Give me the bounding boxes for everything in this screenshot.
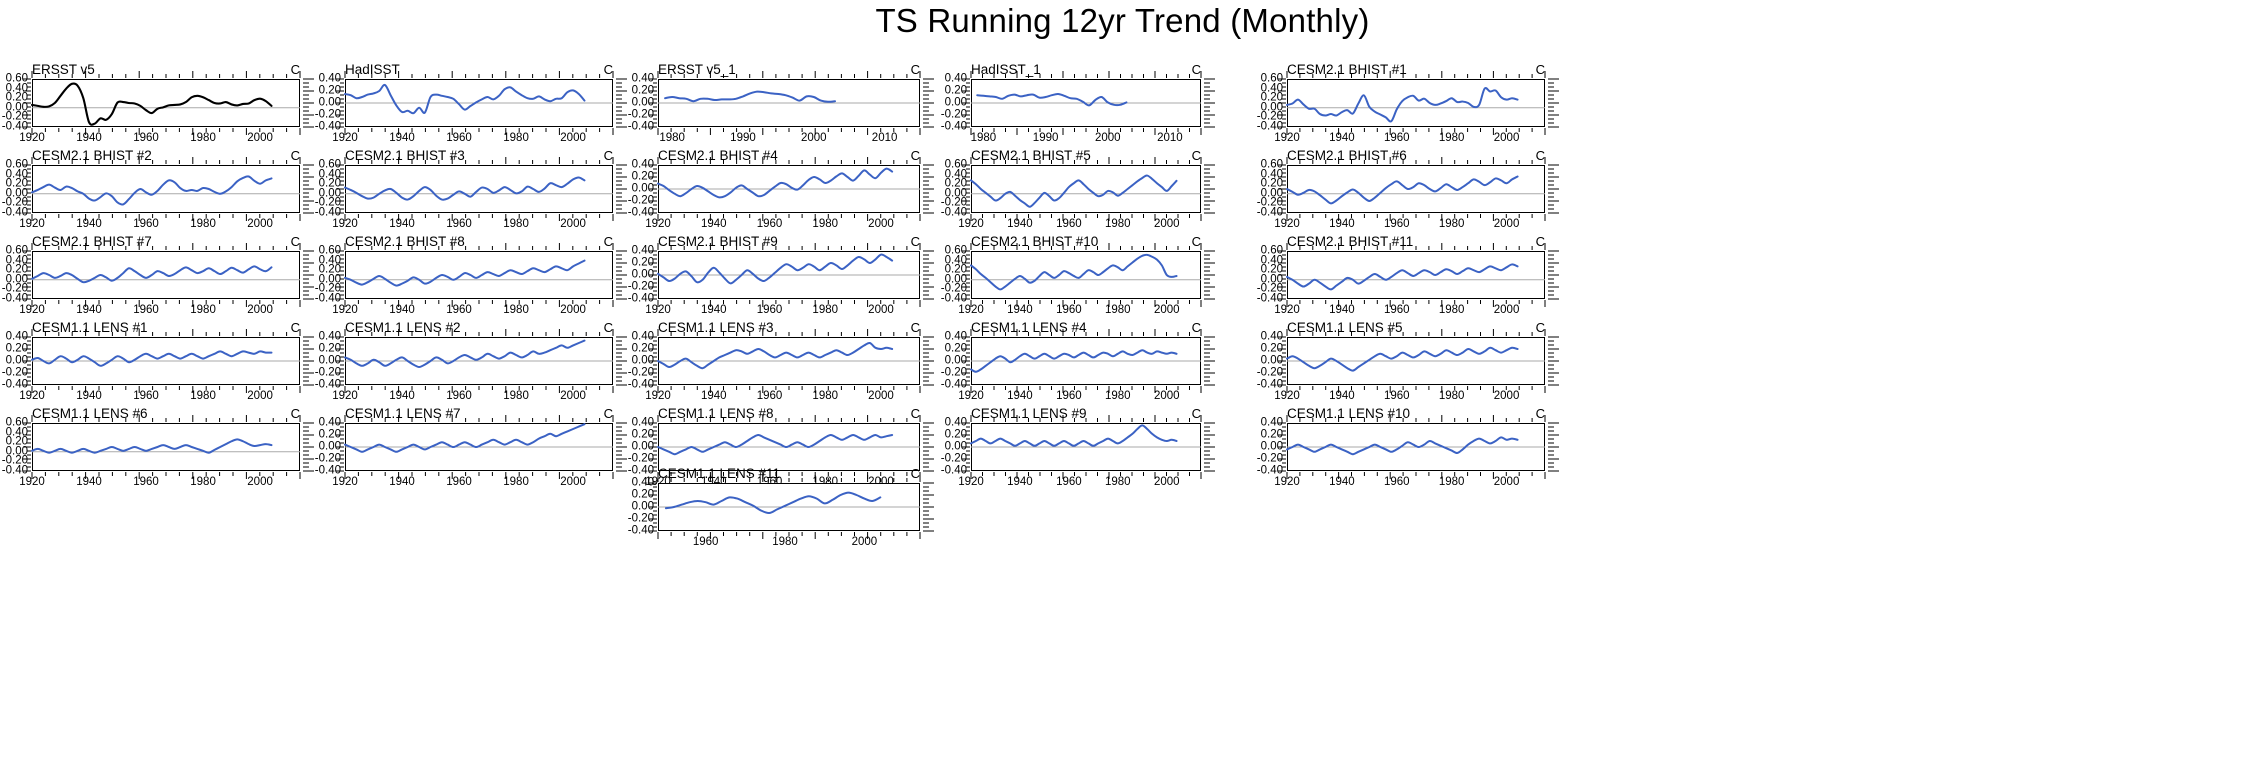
panel-cesm1-1-lens-11: CESM1.1 LENS #11C0.400.200.00-0.20-0.401… (658, 466, 920, 554)
series-canvas (32, 423, 326, 501)
panel-cesm1-1-lens-6: CESM1.1 LENS #6C0.600.400.200.00-0.20-0.… (32, 406, 300, 494)
panel-title: CESM2.1 BHIST #7 (32, 234, 152, 249)
series-canvas (1287, 79, 1571, 157)
panel-unit-label: C (604, 234, 613, 249)
series-canvas (658, 337, 946, 415)
panel-cesm1-1-lens-2: CESM1.1 LENS #2C0.400.200.00-0.20-0.4019… (345, 320, 613, 408)
panel-unit-label: C (1536, 62, 1545, 77)
series-canvas (1287, 337, 1571, 415)
panel-cesm1-1-lens-7: CESM1.1 LENS #7C0.400.200.00-0.20-0.4019… (345, 406, 613, 494)
panel-cesm1-1-lens-1: CESM1.1 LENS #1C0.400.200.00-0.20-0.4019… (32, 320, 300, 408)
series-canvas (658, 251, 946, 329)
panel-cesm2-1-bhist-9: CESM2.1 BHIST #9C0.400.200.00-0.20-0.401… (658, 234, 920, 322)
panel-unit-label: C (911, 320, 920, 335)
panel-title: CESM1.1 LENS #7 (345, 406, 461, 421)
series-canvas (32, 337, 326, 415)
panel-title: CESM1.1 LENS #3 (658, 320, 774, 335)
series-canvas (345, 337, 639, 415)
panel-unit-label: C (604, 406, 613, 421)
panel-title: CESM2.1 BHIST #8 (345, 234, 465, 249)
series-canvas (345, 79, 639, 157)
trend-line (1287, 177, 1518, 204)
panel-unit-label: C (911, 406, 920, 421)
series-canvas (1287, 423, 1571, 501)
panel-hadisst-1: HadISST_1C0.400.200.00-0.20-0.4019801990… (971, 62, 1201, 150)
panel-ersst-v5-1: ERSST v5_1C0.400.200.00-0.20-0.401980199… (658, 62, 920, 150)
panel-unit-label: C (911, 234, 920, 249)
panel-cesm1-1-lens-5: CESM1.1 LENS #5C0.400.200.00-0.20-0.4019… (1287, 320, 1545, 408)
panel-unit-label: C (1536, 320, 1545, 335)
panel-unit-label: C (291, 406, 300, 421)
panel-cesm1-1-lens-10: CESM1.1 LENS #10C0.400.200.00-0.20-0.401… (1287, 406, 1545, 494)
panel-title: CESM2.1 BHIST #4 (658, 148, 778, 163)
trend-line (32, 84, 271, 125)
panel-unit-label: C (291, 62, 300, 77)
panel-title: CESM2.1 BHIST #3 (345, 148, 465, 163)
series-canvas (971, 337, 1227, 415)
panel-title: CESM2.1 BHIST #11 (1287, 234, 1413, 249)
panel-title: CESM1.1 LENS #8 (658, 406, 774, 421)
panel-title: CESM2.1 BHIST #1 (1287, 62, 1407, 77)
trend-line (32, 176, 271, 204)
panel-title: HadISST (345, 62, 400, 77)
panel-ersst-v5: ERSST v5C0.600.400.200.00-0.20-0.4019201… (32, 62, 300, 150)
panel-hadisst: HadISSTC0.400.200.00-0.20-0.401920194019… (345, 62, 613, 150)
trend-line (666, 493, 880, 513)
panel-cesm2-1-bhist-11: CESM2.1 BHIST #11C0.600.400.200.00-0.20-… (1287, 234, 1545, 322)
panel-unit-label: C (1536, 148, 1545, 163)
panel-cesm2-1-bhist-7: CESM2.1 BHIST #7C0.600.400.200.00-0.20-0… (32, 234, 300, 322)
trend-line (32, 439, 271, 452)
panel-unit-label: C (911, 148, 920, 163)
trend-line (1287, 88, 1518, 122)
panel-title: CESM2.1 BHIST #2 (32, 148, 152, 163)
panel-unit-label: C (604, 320, 613, 335)
panel-cesm2-1-bhist-6: CESM2.1 BHIST #6C0.600.400.200.00-0.20-0… (1287, 148, 1545, 236)
panel-cesm2-1-bhist-8: CESM2.1 BHIST #8C0.600.400.200.00-0.20-0… (345, 234, 613, 322)
panel-title: CESM1.1 LENS #10 (1287, 406, 1410, 421)
figure-title: TS Running 12yr Trend (Monthly) (0, 2, 2245, 40)
trend-line (971, 176, 1177, 207)
trend-line (658, 435, 892, 454)
trend-line (345, 261, 584, 286)
panel-unit-label: C (1192, 234, 1201, 249)
trend-line (658, 169, 892, 198)
trend-line (665, 92, 835, 102)
panel-unit-label: C (291, 234, 300, 249)
series-canvas (1287, 251, 1571, 329)
trend-line (345, 424, 584, 452)
panel-cesm1-1-lens-4: CESM1.1 LENS #4C0.400.200.00-0.20-0.4019… (971, 320, 1201, 408)
panel-cesm1-1-lens-3: CESM1.1 LENS #3C0.400.200.00-0.20-0.4019… (658, 320, 920, 408)
series-canvas (658, 483, 946, 561)
trend-line (345, 85, 584, 113)
panel-unit-label: C (1192, 320, 1201, 335)
series-canvas (971, 79, 1227, 157)
panel-title: CESM1.1 LENS #11 (658, 466, 780, 481)
series-canvas (345, 423, 639, 501)
trend-line (971, 425, 1177, 445)
panel-unit-label: C (291, 148, 300, 163)
panel-cesm1-1-lens-9: CESM1.1 LENS #9C0.400.200.00-0.20-0.4019… (971, 406, 1201, 494)
trend-line (658, 255, 892, 284)
panel-cesm2-1-bhist-1: CESM2.1 BHIST #1C0.600.400.200.00-0.20-0… (1287, 62, 1545, 150)
series-canvas (32, 251, 326, 329)
trend-line (1287, 348, 1518, 371)
trend-line (345, 177, 584, 199)
figure-root: TS Running 12yr Trend (Monthly) ERSST v5… (0, 0, 2245, 779)
panel-cesm2-1-bhist-3: CESM2.1 BHIST #3C0.600.400.200.00-0.20-0… (345, 148, 613, 236)
panel-title: CESM2.1 BHIST #5 (971, 148, 1091, 163)
panel-title: CESM1.1 LENS #2 (345, 320, 461, 335)
panel-title: CESM1.1 LENS #6 (32, 406, 148, 421)
panel-title: CESM1.1 LENS #1 (32, 320, 148, 335)
trend-line (1287, 437, 1518, 454)
panel-unit-label: C (1536, 406, 1545, 421)
series-canvas (971, 251, 1227, 329)
panel-title: CESM1.1 LENS #5 (1287, 320, 1403, 335)
panel-title: CESM2.1 BHIST #10 (971, 234, 1098, 249)
series-canvas (345, 251, 639, 329)
trend-line (971, 255, 1177, 290)
panel-unit-label: C (1536, 234, 1545, 249)
panel-unit-label: C (291, 320, 300, 335)
panel-cesm2-1-bhist-4: CESM2.1 BHIST #4C0.400.200.00-0.20-0.401… (658, 148, 920, 236)
panel-title: CESM2.1 BHIST #6 (1287, 148, 1407, 163)
series-canvas (32, 165, 326, 243)
series-canvas (345, 165, 639, 243)
trend-line (345, 341, 584, 367)
panel-cesm2-1-bhist-5: CESM2.1 BHIST #5C0.600.400.200.00-0.20-0… (971, 148, 1201, 236)
panel-unit-label: C (1192, 406, 1201, 421)
series-canvas (971, 165, 1227, 243)
series-canvas (1287, 165, 1571, 243)
panel-cesm2-1-bhist-10: CESM2.1 BHIST #10C0.600.400.200.00-0.20-… (971, 234, 1201, 322)
trend-line (32, 351, 271, 365)
trend-line (1287, 264, 1518, 289)
series-canvas (658, 79, 946, 157)
series-canvas (32, 79, 326, 157)
panel-title: CESM2.1 BHIST #9 (658, 234, 778, 249)
panel-unit-label: C (1192, 148, 1201, 163)
panel-cesm2-1-bhist-2: CESM2.1 BHIST #2C0.600.400.200.00-0.20-0… (32, 148, 300, 236)
trend-line (977, 94, 1126, 105)
trend-line (658, 343, 892, 368)
series-canvas (658, 165, 946, 243)
panel-unit-label: C (911, 62, 920, 77)
series-canvas (971, 423, 1227, 501)
panel-unit-label: C (604, 62, 613, 77)
panel-unit-label: C (604, 148, 613, 163)
panel-unit-label: C (911, 466, 920, 481)
panel-unit-label: C (1192, 62, 1201, 77)
